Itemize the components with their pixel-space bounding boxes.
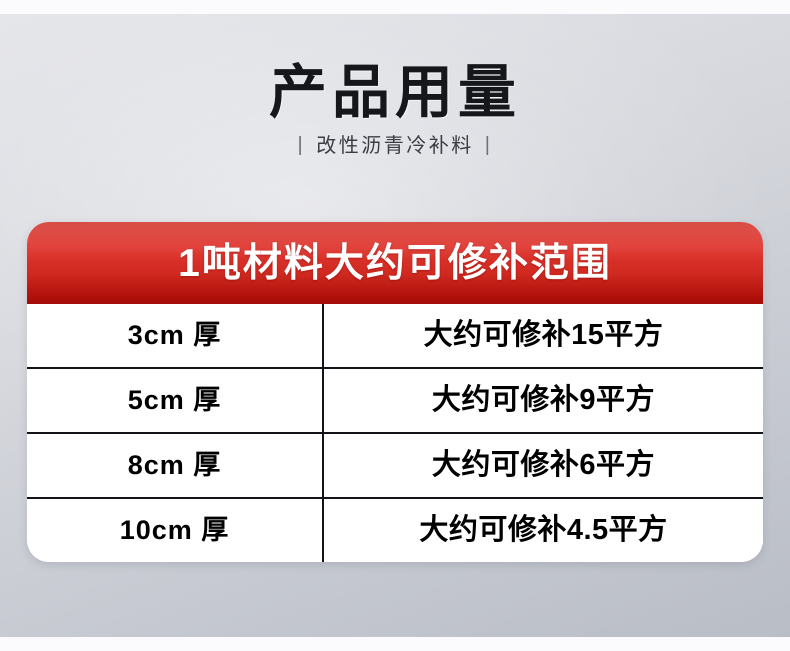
card-banner-label: 1吨材料大约可修补范围 <box>178 244 612 283</box>
subtitle-rule-left: | <box>287 135 317 155</box>
table-row: 3cm 厚 大约可修补15平方 <box>27 304 763 368</box>
page-root: 产品用量 |改性沥青冷补料| 1吨材料大约可修补范围 3cm 厚 大约可修补15… <box>0 0 790 651</box>
header-block: 产品用量 |改性沥青冷补料| <box>0 62 790 156</box>
usage-table: 3cm 厚 大约可修补15平方 5cm 厚 大约可修补9平方 8cm 厚 大约可… <box>27 304 763 562</box>
subtitle-text: 改性沥青冷补料 <box>316 135 474 157</box>
cell-area: 大约可修补6平方 <box>323 433 763 498</box>
cell-thickness: 3cm 厚 <box>27 304 323 368</box>
table-row: 5cm 厚 大约可修补9平方 <box>27 368 763 433</box>
table-row: 10cm 厚 大约可修补4.5平方 <box>27 498 763 562</box>
usage-table-body: 3cm 厚 大约可修补15平方 5cm 厚 大约可修补9平方 8cm 厚 大约可… <box>27 304 763 562</box>
usage-card: 1吨材料大约可修补范围 3cm 厚 大约可修补15平方 5cm 厚 大约可修补9… <box>27 222 763 562</box>
subtitle-rule-right: | <box>474 135 504 155</box>
card-banner: 1吨材料大约可修补范围 <box>27 222 763 304</box>
cell-area: 大约可修补9平方 <box>323 368 763 433</box>
table-row: 8cm 厚 大约可修补6平方 <box>27 433 763 498</box>
cell-thickness: 8cm 厚 <box>27 433 323 498</box>
page-subtitle: |改性沥青冷补料| <box>0 136 790 156</box>
page-title: 产品用量 <box>0 62 790 123</box>
cell-thickness: 5cm 厚 <box>27 368 323 433</box>
cell-thickness: 10cm 厚 <box>27 498 323 562</box>
cell-area: 大约可修补4.5平方 <box>323 498 763 562</box>
cell-area: 大约可修补15平方 <box>323 304 763 368</box>
